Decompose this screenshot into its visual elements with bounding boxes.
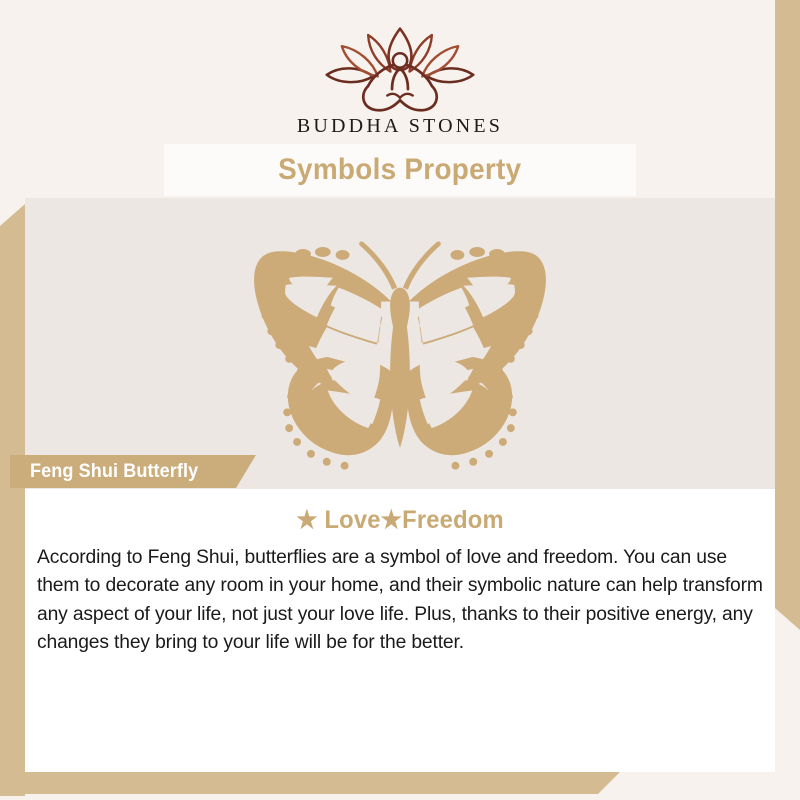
- decor-ribbon-left: [0, 204, 25, 796]
- description-text: According to Feng Shui, butterflies are …: [35, 544, 765, 657]
- brand-header: BUDDHA STONES: [25, 0, 775, 142]
- status-badge: Feng Shui Butterfly: [10, 455, 256, 488]
- decor-ribbon-right: [775, 0, 800, 630]
- page-title: Symbols Property: [278, 153, 521, 187]
- butterfly-icon: [212, 221, 588, 471]
- subheading: ★ Love★Freedom: [53, 505, 747, 535]
- decor-ribbon-bottom: [0, 772, 620, 794]
- tag-label: Feng Shui Butterfly: [30, 461, 198, 483]
- poster-canvas: BUDDHA STONES Symbols Property: [0, 0, 800, 800]
- section-title-bar: Symbols Property: [164, 144, 636, 196]
- lotus-meditation-icon: [320, 27, 480, 113]
- brand-wordmark: BUDDHA STONES: [297, 115, 503, 138]
- description-panel: ★ Love★Freedom According to Feng Shui, b…: [25, 489, 775, 772]
- hero-panel: [25, 198, 775, 489]
